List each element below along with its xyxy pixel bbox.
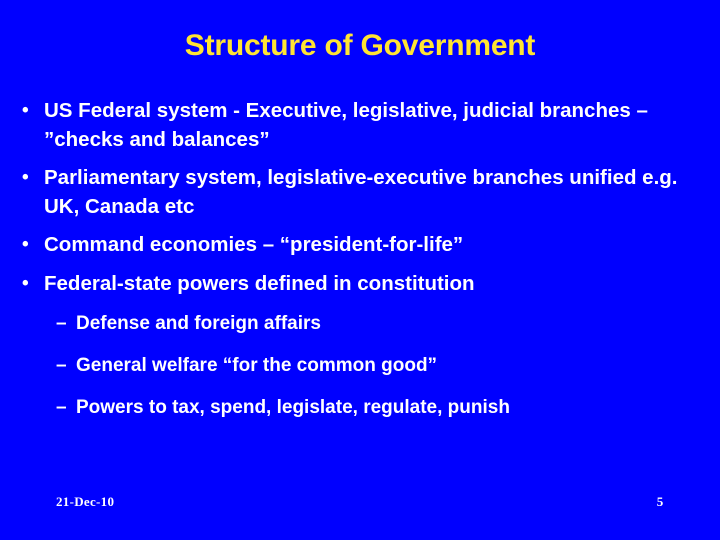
bullet-marker-icon: • xyxy=(22,230,44,259)
bullet-marker-icon: • xyxy=(22,96,44,125)
dash-marker-icon: – xyxy=(56,394,76,422)
slide-body: • US Federal system - Executive, legisla… xyxy=(22,96,698,436)
bullet-text: Federal-state powers defined in constitu… xyxy=(44,269,698,298)
sub-bullet-item: – General welfare “for the common good” xyxy=(22,352,698,380)
bullet-text: US Federal system - Executive, legislati… xyxy=(44,96,698,154)
bullet-text: Command economies – “president-for-life” xyxy=(44,230,698,259)
slide-title: Structure of Government xyxy=(0,28,720,64)
bullet-text: Parliamentary system, legislative-execut… xyxy=(44,163,698,221)
sub-bullet-text: Powers to tax, spend, legislate, regulat… xyxy=(76,394,698,422)
footer-page-number: 5 xyxy=(648,494,672,510)
bullet-marker-icon: • xyxy=(22,163,44,192)
sub-bullet-text: General welfare “for the common good” xyxy=(76,352,698,380)
sub-bullet-item: – Defense and foreign affairs xyxy=(22,310,698,338)
bullet-item: • Parliamentary system, legislative-exec… xyxy=(22,163,698,221)
bullet-item: • Command economies – “president-for-lif… xyxy=(22,230,698,259)
presentation-slide: Structure of Government • US Federal sys… xyxy=(0,0,720,540)
sub-bullet-text: Defense and foreign affairs xyxy=(76,310,698,338)
bullet-marker-icon: • xyxy=(22,269,44,298)
bullet-item: • US Federal system - Executive, legisla… xyxy=(22,96,698,154)
bullet-item: • Federal-state powers defined in consti… xyxy=(22,269,698,298)
footer-date: 21-Dec-10 xyxy=(56,494,114,510)
dash-marker-icon: – xyxy=(56,310,76,338)
sub-bullet-item: – Powers to tax, spend, legislate, regul… xyxy=(22,394,698,422)
dash-marker-icon: – xyxy=(56,352,76,380)
